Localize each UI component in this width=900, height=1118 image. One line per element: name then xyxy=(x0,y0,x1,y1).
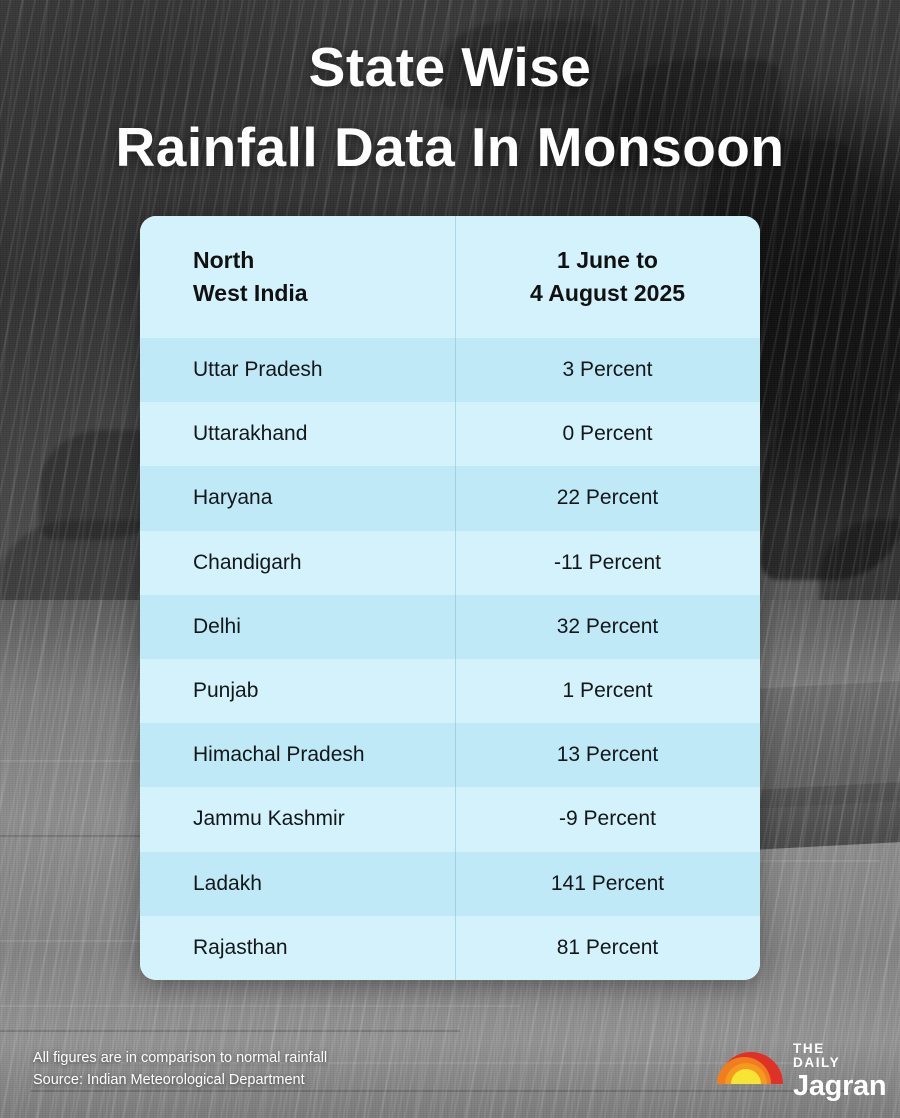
state-value: 22 Percent xyxy=(455,466,760,530)
state-value: 141 Percent xyxy=(455,852,760,916)
state-value: 13 Percent xyxy=(455,723,760,787)
rainfall-table-card: North West India 1 June to 4 August 2025… xyxy=(140,216,760,980)
state-name: Jammu Kashmir xyxy=(140,787,455,851)
table-row: Ladakh 141 Percent xyxy=(140,852,760,916)
brand-tagline: THE DAILY xyxy=(793,1042,873,1069)
table-row: Rajasthan 81 Percent xyxy=(140,916,760,980)
state-value: -9 Percent xyxy=(455,787,760,851)
state-value: 81 Percent xyxy=(455,916,760,980)
footer-note-line-2: Source: Indian Meteorological Department xyxy=(33,1070,513,1092)
title-line-1: State Wise xyxy=(309,36,592,98)
footer-note: All figures are in comparison to normal … xyxy=(33,1048,513,1092)
brand-name: Jagran xyxy=(793,1072,873,1101)
state-value: 3 Percent xyxy=(455,338,760,402)
state-name: Delhi xyxy=(140,595,455,659)
state-name: Himachal Pradesh xyxy=(140,723,455,787)
state-value: 0 Percent xyxy=(455,402,760,466)
header-period-line-1: 1 June to xyxy=(530,244,685,277)
state-name: Punjab xyxy=(140,659,455,723)
state-name: Ladakh xyxy=(140,852,455,916)
footer-note-line-1: All figures are in comparison to normal … xyxy=(33,1048,513,1070)
brand-logo: THE DAILY Jagran xyxy=(715,1036,870,1098)
brand-wordmark: THE DAILY Jagran xyxy=(793,1038,873,1101)
table-header-row: North West India 1 June to 4 August 2025 xyxy=(140,216,760,338)
table-row: Chandigarh -11 Percent xyxy=(140,531,760,595)
state-value: 1 Percent xyxy=(455,659,760,723)
state-name: Uttarakhand xyxy=(140,402,455,466)
table-row: Delhi 32 Percent xyxy=(140,595,760,659)
table-row: Himachal Pradesh 13 Percent xyxy=(140,723,760,787)
state-value: -11 Percent xyxy=(455,531,760,595)
state-name: Rajasthan xyxy=(140,916,455,980)
state-name: Chandigarh xyxy=(140,531,455,595)
table-header-region: North West India xyxy=(140,216,455,338)
table-row: Jammu Kashmir -9 Percent xyxy=(140,787,760,851)
table-row: Uttar Pradesh 3 Percent xyxy=(140,338,760,402)
header-region-line-1: North xyxy=(193,244,308,277)
table-row: Uttarakhand 0 Percent xyxy=(140,402,760,466)
page-title: State Wise Rainfall Data In Monsoon xyxy=(0,28,900,188)
table-header-period: 1 June to 4 August 2025 xyxy=(455,216,760,338)
table-row: Punjab 1 Percent xyxy=(140,659,760,723)
table-row: Haryana 22 Percent xyxy=(140,466,760,530)
header-period-line-2: 4 August 2025 xyxy=(530,277,685,310)
sunrise-arcs-icon xyxy=(715,1042,787,1086)
state-name: Haryana xyxy=(140,466,455,530)
header-region-line-2: West India xyxy=(193,277,308,310)
state-name: Uttar Pradesh xyxy=(140,338,455,402)
state-value: 32 Percent xyxy=(455,595,760,659)
title-line-2: Rainfall Data In Monsoon xyxy=(0,108,900,188)
